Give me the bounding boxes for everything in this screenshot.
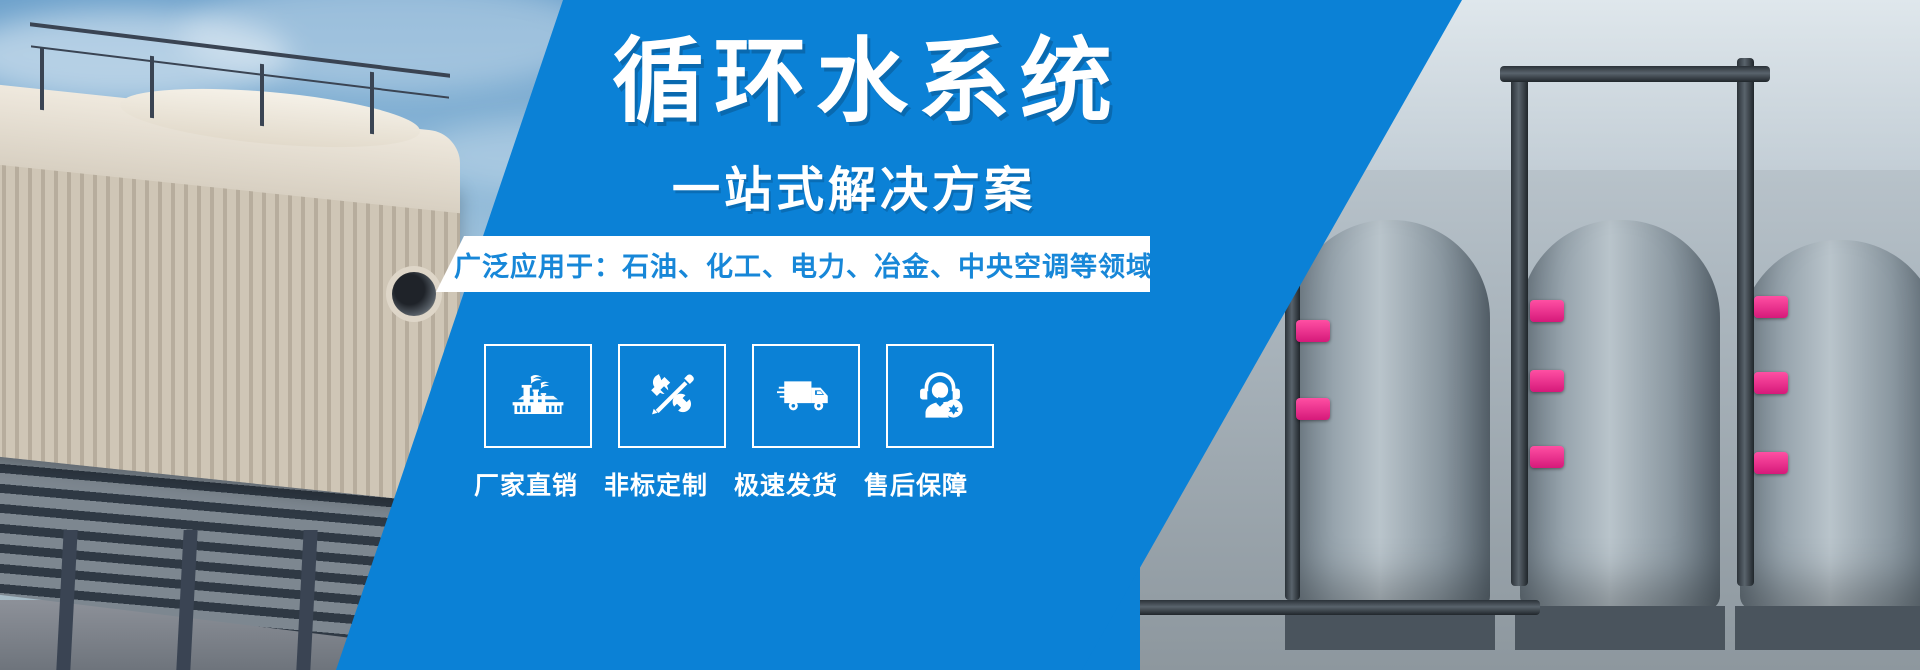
delivery-truck-icon: [775, 365, 837, 428]
railing-post: [150, 56, 154, 118]
vertical-pipe: [1511, 66, 1528, 586]
valve-handle: [1530, 370, 1564, 392]
feature-label-support: 售后保障: [862, 466, 970, 502]
tower-vent-icon: [392, 272, 436, 316]
application-band: 广泛应用于：石油、化工、电力、冶金、中央空调等领域: [436, 236, 1150, 292]
vessel-base: [1735, 606, 1920, 650]
feature-box-shipping[interactable]: [752, 344, 860, 448]
headset-support-icon: [909, 365, 971, 428]
valve-handle: [1530, 446, 1564, 468]
valve-handle: [1530, 300, 1564, 322]
vessel-base: [1515, 606, 1725, 650]
valve-handle: [1296, 320, 1330, 342]
feature-label-factory: 厂家直销: [472, 466, 580, 502]
railing-post: [260, 64, 264, 126]
feature-label-custom: 非标定制: [602, 466, 710, 502]
feature-box-custom[interactable]: [618, 344, 726, 448]
application-band-text: 广泛应用于：石油、化工、电力、冶金、中央空调等领域: [436, 236, 1150, 292]
page-subtitle: 一站式解决方案: [672, 150, 1132, 220]
feature-label-row: 厂家直销 非标定制 极速发货 售后保障: [472, 466, 992, 502]
feature-box-factory[interactable]: [484, 344, 592, 448]
feature-label-shipping: 极速发货: [732, 466, 840, 502]
horizontal-pipe: [1140, 600, 1540, 615]
valve-handle: [1754, 452, 1788, 474]
page-title: 循环水系统: [612, 34, 1132, 131]
horizontal-pipe: [1500, 66, 1770, 82]
promo-banner: 循环水系统 一站式解决方案 广泛应用于：石油、化工、电力、冶金、中央空调等领域: [0, 0, 1920, 670]
valve-handle: [1754, 372, 1788, 394]
wrench-pencil-icon: [641, 365, 703, 428]
railing-post: [370, 72, 374, 134]
valve-handle: [1754, 296, 1788, 318]
railing-post: [40, 48, 44, 110]
valve-handle: [1296, 398, 1330, 420]
feature-icon-row: [484, 344, 994, 448]
vertical-pipe: [1737, 58, 1754, 586]
factory-icon: [507, 365, 569, 428]
pressure-vessel: [1520, 220, 1720, 610]
feature-box-support[interactable]: [886, 344, 994, 448]
